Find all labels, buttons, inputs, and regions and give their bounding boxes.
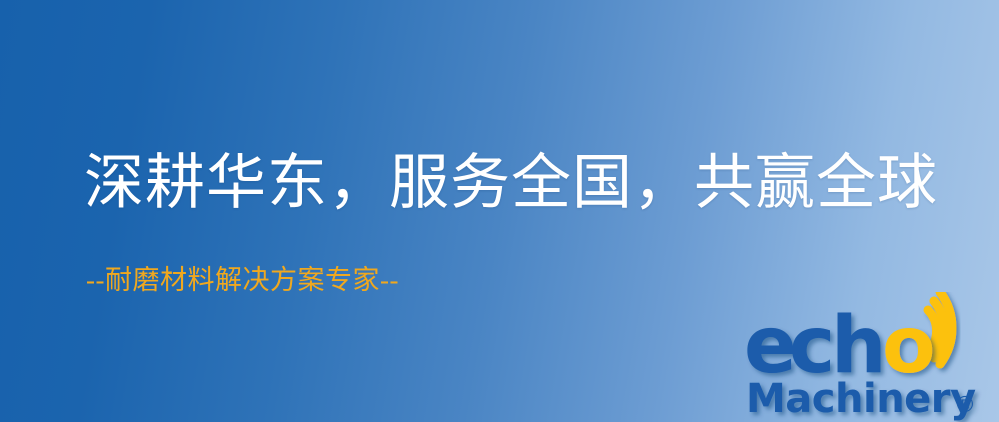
logo-trademark-symbol: ® — [954, 393, 976, 418]
banner-subtitle: --耐磨材料解决方案专家-- — [86, 264, 399, 296]
promo-banner: 深耕华东，服务全国，共赢全球 --耐磨材料解决方案专家-- e c h o — [0, 0, 999, 422]
banner-headline: 深耕华东，服务全国，共赢全球 — [84, 148, 938, 219]
logo-svg: e c h o Machinery ® — [742, 292, 998, 422]
logo-tagline: Machinery — [746, 376, 976, 422]
logo-tagline-group: Machinery ® — [746, 376, 976, 422]
echo-machinery-logo: e c h o Machinery ® — [742, 292, 998, 422]
